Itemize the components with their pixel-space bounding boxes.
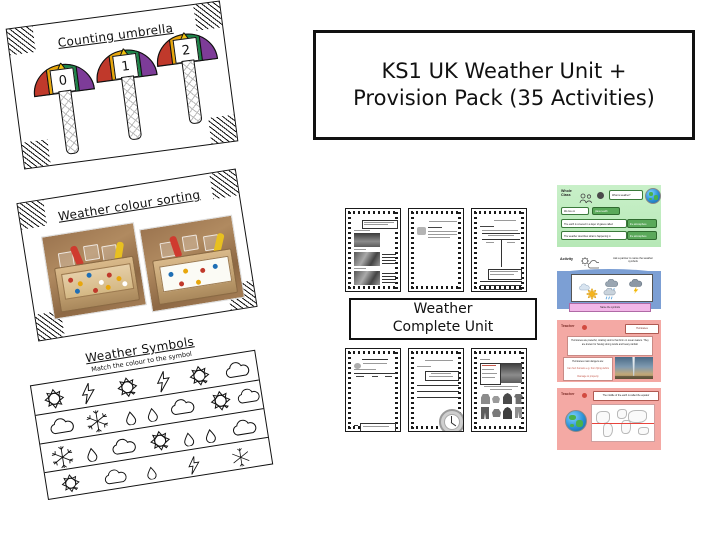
umbrella-number: 1 bbox=[121, 58, 131, 74]
slide-heading-box[interactable]: Hurricanes bbox=[625, 324, 659, 334]
slide-heading-text: Ask a partner to name the weather symbol… bbox=[609, 257, 657, 263]
lightning-icon bbox=[152, 369, 176, 399]
center-title-line2: Complete Unit bbox=[393, 319, 493, 335]
clothing-icon bbox=[492, 409, 501, 417]
equator-line bbox=[592, 423, 654, 424]
umbrella-handle bbox=[58, 90, 79, 155]
raindrop-icon bbox=[182, 431, 196, 451]
hurricane-dangers-panel: Hurricanes main dangers are: Can hurt hu… bbox=[563, 357, 613, 381]
worksheet-thumb-question[interactable] bbox=[408, 208, 464, 292]
umbrella-item: 1 bbox=[93, 44, 158, 82]
sun-icon bbox=[185, 363, 215, 394]
statement-text: We live on bbox=[564, 210, 589, 213]
snowflake-icon bbox=[49, 443, 77, 475]
worksheet-thumb-clothing[interactable] bbox=[471, 348, 527, 432]
umbrella-number: 2 bbox=[181, 42, 191, 58]
sun-icon bbox=[113, 374, 143, 405]
lightning-icon bbox=[184, 454, 206, 481]
snowflake-icon bbox=[229, 446, 253, 474]
footer-bar-text: Name the symbols bbox=[570, 306, 650, 309]
cloud-icon bbox=[167, 397, 198, 422]
slide-footer-bar: Name the symbols bbox=[569, 303, 651, 312]
header-title-line1: KS1 UK Weather Unit + bbox=[381, 59, 626, 83]
poster-canvas: KS1 UK Weather Unit + Provision Pack (35… bbox=[0, 0, 720, 540]
clock-icon bbox=[597, 192, 604, 199]
cloud-icon bbox=[47, 416, 78, 441]
card-corner-decor bbox=[208, 115, 237, 144]
statement-row: The weather describes what is happening … bbox=[561, 231, 627, 240]
header-title-banner: KS1 UK Weather Unit + Provision Pack (35… bbox=[313, 30, 695, 140]
cloud-icon bbox=[101, 467, 130, 491]
raindrop-icon bbox=[145, 466, 159, 485]
weather-symbols-panel bbox=[571, 274, 653, 302]
slide-weather-symbols-activity[interactable]: Activity Ask a partner to name the weath… bbox=[557, 253, 661, 315]
slide-heading-box: What is weather? bbox=[609, 190, 643, 200]
sorting-tray-photo bbox=[139, 215, 245, 313]
clothing-icon bbox=[492, 396, 500, 403]
slide-hurricanes[interactable]: Teacher Hurricanes Hurricanes are powerf… bbox=[557, 320, 661, 382]
globe-icon bbox=[645, 188, 661, 204]
card-corner-decor bbox=[22, 139, 51, 168]
compass-icon bbox=[439, 409, 464, 432]
apple-icon bbox=[582, 325, 587, 330]
statement-text: The weather describes what is happening … bbox=[564, 235, 627, 238]
worksheet-thumb-two-column[interactable] bbox=[471, 208, 527, 292]
danger-item: Can hurt humans e.g. from flying debris bbox=[566, 367, 610, 370]
preview-card-weather-symbols[interactable]: Weather Symbols Match the colour to the … bbox=[20, 322, 281, 508]
slide-audience-label: Whole Class bbox=[561, 190, 572, 198]
danger-item: Damage to property bbox=[566, 375, 610, 378]
lightning-icon bbox=[77, 381, 101, 411]
answer-chip: the atmosphere bbox=[627, 231, 657, 240]
globe-icon bbox=[565, 410, 587, 432]
raindrop-icon bbox=[85, 447, 99, 467]
statement-row: We live on bbox=[561, 207, 589, 215]
slide-heading-text: The middle of the earth is called the eq… bbox=[596, 394, 656, 397]
umbrella-number: 0 bbox=[58, 73, 68, 89]
raindrop-icon bbox=[204, 428, 218, 448]
cloud-icon bbox=[222, 360, 253, 385]
sorting-tray-photo bbox=[41, 222, 147, 320]
slide-what-is-weather[interactable]: Whole Class What is weather? We live on … bbox=[557, 185, 661, 247]
header-title-text: KS1 UK Weather Unit + Provision Pack (35… bbox=[353, 58, 655, 112]
slide-equator[interactable]: Teacher The middle of the earth is calle… bbox=[557, 388, 661, 450]
slide-heading-box: The middle of the earth is called the eq… bbox=[593, 391, 659, 401]
sun-icon bbox=[40, 386, 70, 417]
world-map bbox=[591, 404, 655, 442]
statement-text: The earth is covered in a layer of gases… bbox=[564, 223, 627, 226]
worksheet-thumb-photos-lines[interactable] bbox=[345, 208, 401, 292]
answer-text: the atmosphere bbox=[630, 223, 657, 226]
cloud-icon bbox=[109, 436, 140, 461]
raindrop-icon bbox=[146, 407, 160, 427]
slide-audience-label: Teacher bbox=[561, 393, 575, 397]
umbrella-handle bbox=[181, 59, 202, 124]
preview-card-counting-umbrella[interactable]: Counting umbrella 0 bbox=[6, 1, 239, 170]
answer-chip: planet earth bbox=[592, 207, 620, 215]
sun-icon bbox=[146, 428, 176, 459]
worksheet-thumb-compass[interactable] bbox=[408, 348, 464, 432]
slide-heading-text: What is weather? bbox=[612, 194, 643, 197]
center-title-line1: Weather bbox=[414, 301, 473, 317]
answer-text: planet earth bbox=[595, 210, 620, 213]
answer-text: the atmosphere bbox=[630, 235, 657, 238]
hurricane-body-panel: Hurricanes are powerful, rotating storms… bbox=[567, 336, 653, 356]
hurricane-body-text: Hurricanes are powerful, rotating storms… bbox=[571, 339, 649, 346]
clothing-icon bbox=[503, 407, 512, 419]
clothing-icon bbox=[515, 407, 522, 418]
clothing-icon bbox=[514, 394, 523, 404]
center-title-banner: Weather Complete Unit bbox=[349, 298, 537, 340]
clothing-icon bbox=[503, 393, 512, 404]
cloud-icon bbox=[229, 417, 260, 442]
dangers-title: Hurricanes main dangers are: bbox=[566, 360, 610, 363]
slide-heading-text: Hurricanes bbox=[626, 327, 658, 330]
answer-chip: the atmosphere bbox=[627, 219, 657, 228]
umbrella-handle bbox=[121, 75, 142, 140]
header-title-line2: Provision Pack (35 Activities) bbox=[353, 86, 655, 110]
slide-audience-label: Teacher bbox=[561, 325, 575, 329]
tornado-photo bbox=[615, 357, 653, 379]
umbrella-item: 0 bbox=[30, 59, 95, 97]
clothing-icon bbox=[481, 407, 489, 419]
snowflake-icon bbox=[84, 408, 112, 440]
sun-icon bbox=[57, 471, 85, 499]
cloud-icon bbox=[234, 386, 263, 410]
worksheet-thumb-table-record[interactable] bbox=[345, 348, 401, 432]
apple-icon bbox=[582, 393, 587, 398]
lightning-cloud-icon bbox=[628, 279, 644, 299]
sun-icon bbox=[206, 388, 236, 419]
audience-label-line2: Class bbox=[561, 193, 571, 197]
preview-card-weather-colour-sorting[interactable]: Weather colour sorting bbox=[16, 168, 257, 341]
clothing-icon bbox=[481, 394, 490, 404]
raindrop-icon bbox=[124, 410, 138, 430]
center-title-text: Weather Complete Unit bbox=[393, 301, 493, 337]
slide-audience-label: Activity bbox=[560, 258, 573, 262]
statement-row: The earth is covered in a layer of gases… bbox=[561, 219, 627, 228]
